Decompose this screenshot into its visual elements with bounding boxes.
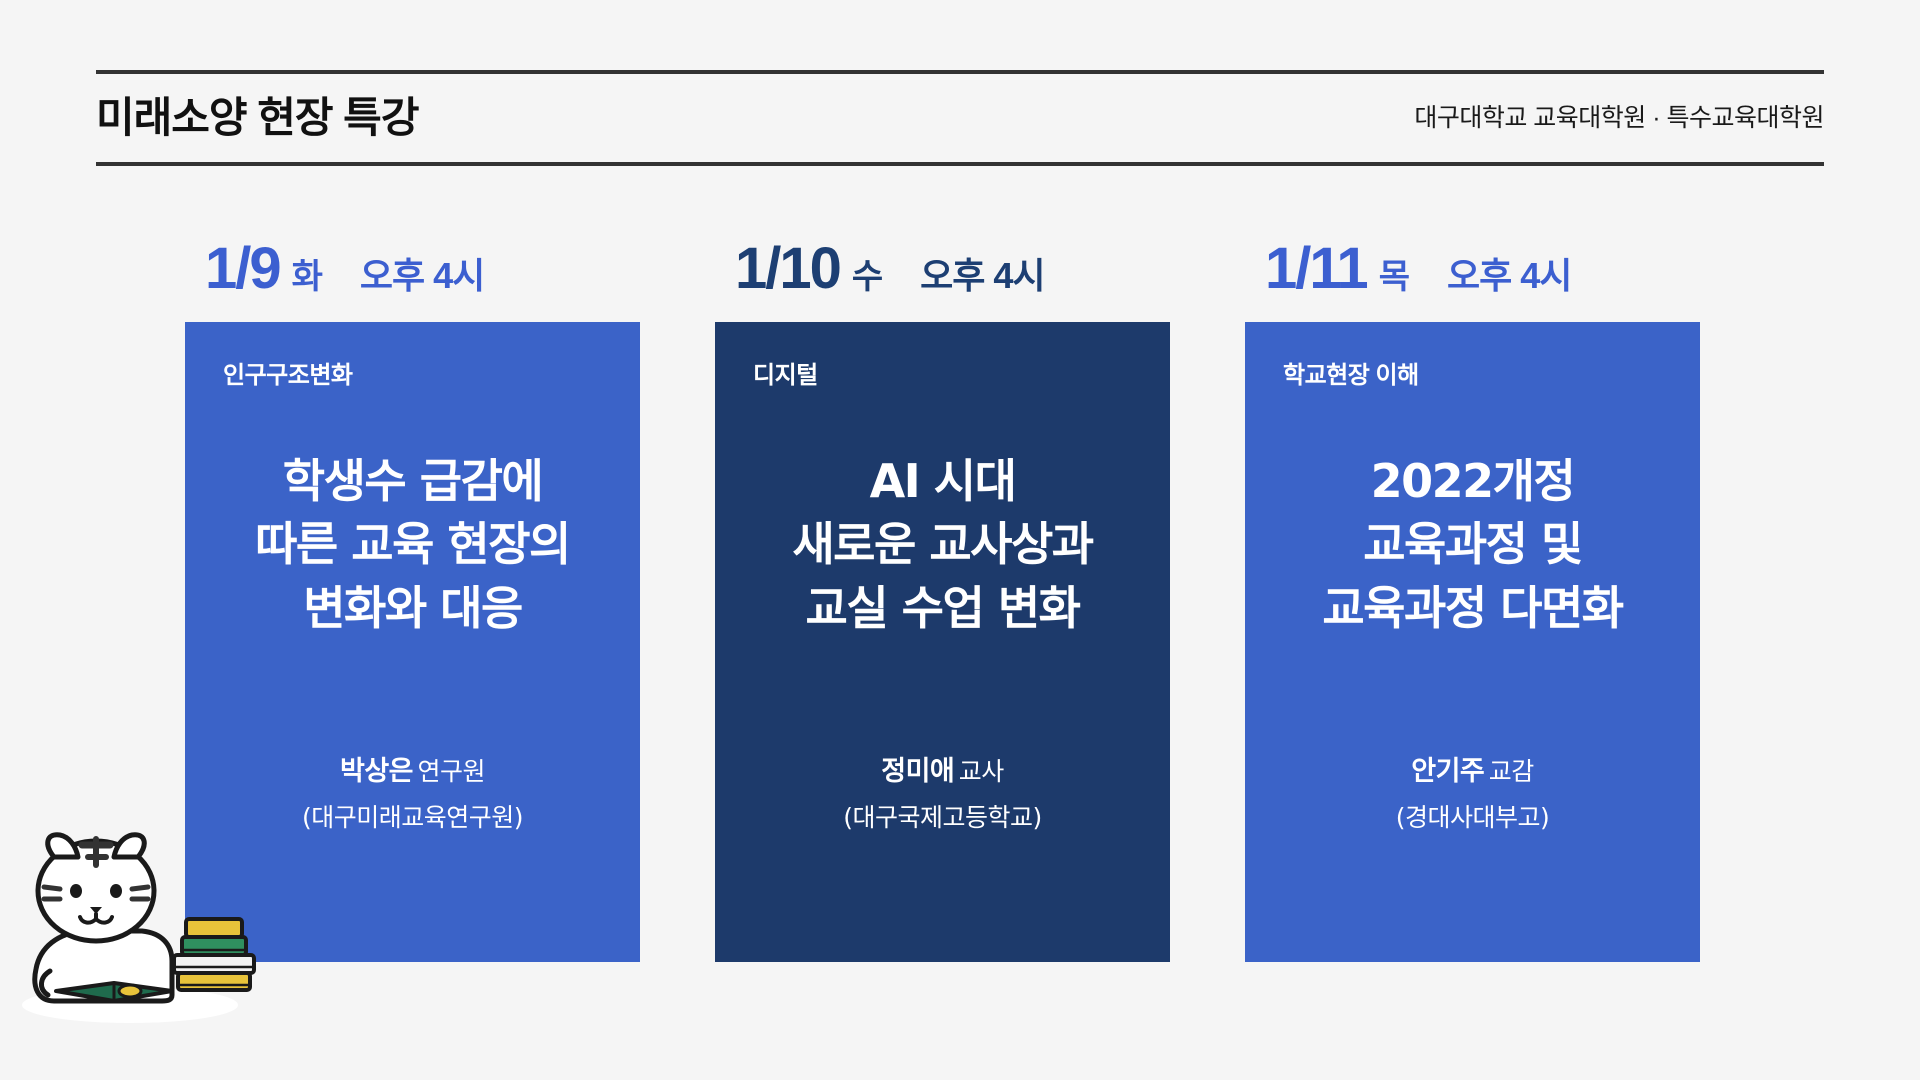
session-date: 1/9 xyxy=(205,240,280,298)
session-card: 학교현장 이해 2022개정 교육과정 및 교육과정 다면화 안기주 교감 (경… xyxy=(1245,322,1700,962)
session-title-line: 2022개정 xyxy=(1245,450,1700,513)
session-title-line: 교육과정 및 xyxy=(1245,513,1700,576)
poster-header: 미래소양 현장 특강 대구대학교 교육대학원 · 특수교육대학원 xyxy=(96,70,1824,166)
speaker-role: 교사 xyxy=(959,758,1004,786)
session-title: 2022개정 교육과정 및 교육과정 다면화 xyxy=(1245,450,1700,640)
session-tag: 인구구조변화 xyxy=(223,364,352,388)
session-speaker: 정미애 교사 (대구국제고등학교) xyxy=(715,749,1170,834)
session-date-line: 1/10 수 오후 4시 xyxy=(715,240,1275,322)
speaker-name: 정미애 xyxy=(881,756,954,786)
session-title-line: AI 시대 xyxy=(715,450,1170,513)
speaker-role: 교감 xyxy=(1489,758,1534,786)
session-date: 1/11 xyxy=(1265,240,1367,298)
session-title-line: 학생수 급감에 xyxy=(185,450,640,513)
session-column: 1/11 목 오후 4시 학교현장 이해 2022개정 교육과정 및 교육과정 … xyxy=(1245,240,1805,962)
session-time: 오후 4시 xyxy=(1447,258,1571,294)
page-title: 미래소양 현장 특강 xyxy=(96,97,418,139)
session-title-line: 따른 교육 현장의 xyxy=(185,513,640,576)
organization-label: 대구대학교 교육대학원 · 특수교육대학원 xyxy=(1414,106,1824,131)
session-time: 오후 4시 xyxy=(360,258,484,294)
speaker-affiliation: (대구국제고등학교) xyxy=(715,798,1170,834)
session-title-line: 변화와 대응 xyxy=(185,577,640,640)
speaker-role: 연구원 xyxy=(417,758,485,786)
session-tag: 디지털 xyxy=(753,364,818,388)
session-date: 1/10 xyxy=(735,240,840,298)
session-title: 학생수 급감에 따른 교육 현장의 변화와 대응 xyxy=(185,450,640,640)
session-time: 오후 4시 xyxy=(920,258,1044,294)
session-weekday: 화 xyxy=(292,260,322,294)
session-weekday: 목 xyxy=(1379,260,1409,294)
session-title: AI 시대 새로운 교사상과 교실 수업 변화 xyxy=(715,450,1170,640)
speaker-affiliation: (경대사대부고) xyxy=(1245,798,1700,834)
session-title-line: 교실 수업 변화 xyxy=(715,577,1170,640)
session-column: 1/10 수 오후 4시 디지털 AI 시대 새로운 교사상과 교실 수업 변화… xyxy=(715,240,1275,962)
session-title-line: 교육과정 다면화 xyxy=(1245,577,1700,640)
session-weekday: 수 xyxy=(852,260,882,294)
session-list: 1/9 화 오후 4시 인구구조변화 학생수 급감에 따른 교육 현장의 변화와… xyxy=(0,240,1920,1040)
tiger-mascot-icon xyxy=(10,795,280,1025)
session-tag: 학교현장 이해 xyxy=(1283,364,1419,388)
session-title-line: 새로운 교사상과 xyxy=(715,513,1170,576)
session-card: 디지털 AI 시대 새로운 교사상과 교실 수업 변화 정미애 교사 (대구국제… xyxy=(715,322,1170,962)
speaker-name: 안기주 xyxy=(1411,756,1484,786)
session-speaker: 안기주 교감 (경대사대부고) xyxy=(1245,749,1700,834)
poster-canvas: 미래소양 현장 특강 대구대학교 교육대학원 · 특수교육대학원 1/9 화 오… xyxy=(0,0,1920,1080)
session-date-line: 1/11 목 오후 4시 xyxy=(1245,240,1805,322)
speaker-name: 박상은 xyxy=(340,756,413,786)
session-date-line: 1/9 화 오후 4시 xyxy=(185,240,745,322)
